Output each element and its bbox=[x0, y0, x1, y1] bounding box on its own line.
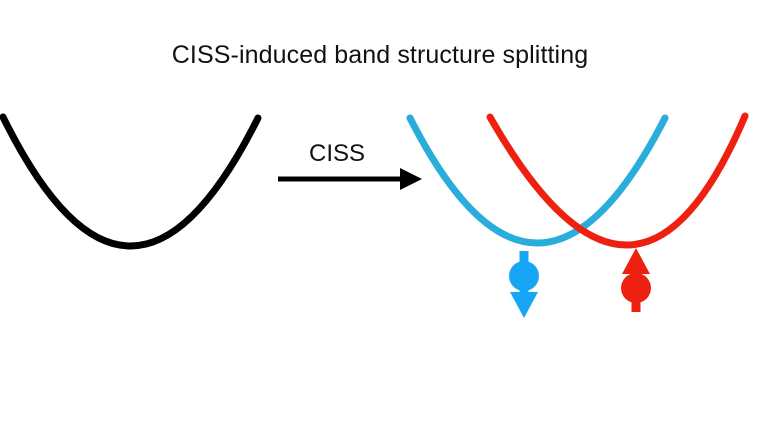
band-structure-drawing bbox=[0, 0, 760, 427]
spin-up-dot-icon bbox=[621, 273, 651, 303]
spin-down-arrowhead-icon bbox=[510, 292, 538, 318]
spin-down-marker bbox=[509, 251, 539, 318]
figure-canvas: CISS-induced band structure splitting CI… bbox=[0, 0, 760, 427]
band-curve-degenerate bbox=[3, 117, 258, 246]
ciss-arrow-head-icon bbox=[400, 168, 422, 190]
spin-up-arrowhead-icon bbox=[622, 248, 650, 274]
spin-up-marker bbox=[621, 248, 651, 312]
band-curve-spin-down bbox=[410, 118, 665, 243]
band-curve-spin-up bbox=[490, 116, 745, 245]
spin-down-dot-icon bbox=[509, 261, 539, 291]
